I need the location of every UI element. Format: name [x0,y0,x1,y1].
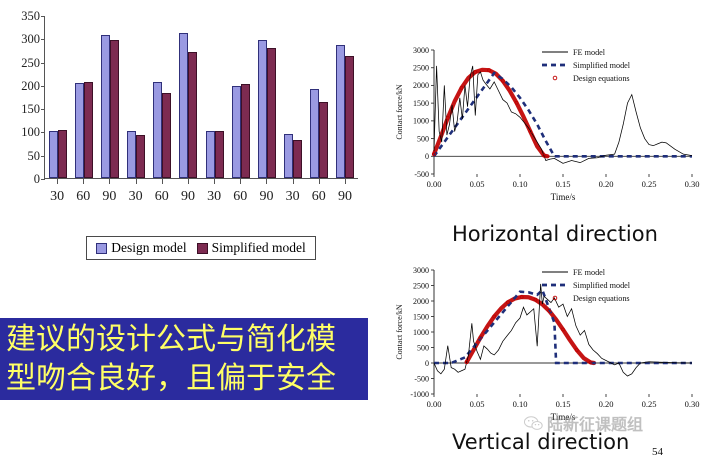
bar-chart-x-tickmark [96,179,122,187]
bar-chart-x-tick-label: 60 [306,189,332,205]
bar-simplified-model [241,84,250,178]
caption-horizontal-direction: Horizontal direction [452,222,658,246]
bar-pair [206,16,224,178]
bar-cluster [280,16,306,178]
y-axis-label: Contact force/kN [395,304,404,360]
bar-chart-y-tick-label: 150 [21,103,40,116]
x-axis-label: Time/s [551,192,576,202]
x-tick-label: 0.15 [556,399,571,409]
bar-simplified-model [188,52,197,178]
legend-item-design-model: Design model [96,240,186,256]
bar-chart-x-tickmark [149,179,175,187]
x-tick-label: 0.30 [685,399,700,409]
bar-pair [310,16,328,178]
bar-chart-x-tickmark [306,179,332,187]
bar-chart-panel: 050100150200250300350 306090306090306090… [0,0,372,222]
legend-swatch-design-model [96,243,107,254]
y-tick-label: 1000 [413,328,429,337]
bar-chart-y-tick-label: 50 [28,149,41,162]
x-tick-label: 0.00 [427,399,442,409]
x-tick-label: 0.00 [427,179,442,189]
x-tick-label: 0.30 [685,179,700,189]
simplified-model-curve [434,73,692,156]
bar-cluster [254,16,280,178]
x-tick-label: 0.10 [513,179,528,189]
bar-chart-x-axis-labels: 306090306090306090306090 [44,189,358,205]
y-tick-label: 500 [417,343,429,352]
y-tick-label: -500 [414,374,429,383]
watermark-text: 陆新征课题组 [547,411,643,435]
wechat-icon [524,416,543,431]
x-tick-label: 0.25 [642,179,657,189]
y-tick-label: 3000 [413,46,429,55]
x-tick-label: 0.05 [470,179,485,189]
bar-cluster [306,16,332,178]
bar-pair [127,16,145,178]
bar-pair [336,16,354,178]
bar-cluster [228,16,254,178]
vertical-chart-svg: -1000-5000500100015002000250030000.000.0… [392,258,702,430]
y-tick-label: 500 [417,134,429,143]
y-tick-label: -1000 [410,390,429,399]
callout-line-1: 建议的设计公式与简化模 [6,320,368,359]
horizontal-contact-force-chart: -5000500100015002000250030000.000.050.10… [392,34,702,212]
fe-model-curve [434,66,692,163]
legend-label-design-equations: Design equations [573,74,630,83]
bar-chart-x-tick-label: 30 [201,189,227,205]
bar-chart-y-tick-label: 100 [21,126,40,139]
callout-line-2: 型吻合良好，且偏于安全 [6,359,368,398]
bar-design-model [49,131,58,178]
bar-cluster [175,16,201,178]
bar-pair [179,16,197,178]
bar-chart-x-tick-label: 60 [227,189,253,205]
bar-chart-x-tick-label: 90 [332,189,358,205]
bar-chart-x-tick-label: 30 [123,189,149,205]
bar-pair [153,16,171,178]
bar-pair [75,16,93,178]
bar-chart-x-tickmark [70,179,96,187]
legend-label-simplified-model: Simplified model [573,61,631,70]
bar-simplified-model [58,130,67,178]
y-tick-label: 2500 [413,64,429,73]
bar-chart-x-tickmark [332,179,358,187]
bar-design-model [232,86,241,178]
bar-simplified-model [84,82,93,178]
x-tick-label: 0.15 [556,179,571,189]
bar-cluster [71,16,97,178]
legend-label-fe-model: FE model [573,48,606,57]
bar-simplified-model [293,140,302,178]
bar-chart-legend: Design model Simplified model [86,236,316,260]
bar-simplified-model [215,131,224,178]
bar-pair [258,16,276,178]
bar-chart-x-tickmark [227,179,253,187]
bar-chart-x-tickmark [123,179,149,187]
legend-label-simplified-model: Simplified model [212,240,306,256]
bar-simplified-model [136,135,145,178]
bar-chart-y-tick-label: 300 [21,33,40,46]
legend-label-design-equations: Design equations [573,294,630,303]
bar-design-model [310,89,319,178]
bar-chart-x-tickmarks [44,179,358,187]
bar-chart-x-tick-label: 30 [44,189,70,205]
watermark: 陆新征课题组 [524,410,704,436]
bar-chart-bars [45,16,358,178]
y-tick-label: 2000 [413,297,429,306]
y-tick-label: 2000 [413,81,429,90]
y-axis-label: Contact force/kN [395,84,404,140]
bar-chart-x-tickmark [253,179,279,187]
y-tick-label: 0 [425,359,429,368]
bar-design-model [206,131,215,178]
vertical-contact-force-chart: -1000-5000500100015002000250030000.000.0… [392,258,702,430]
bar-simplified-model [162,93,171,178]
bar-design-model [179,33,188,178]
y-tick-label: 0 [425,152,429,161]
bar-cluster [45,16,71,178]
bar-chart-x-tick-label: 30 [280,189,306,205]
bar-chart-y-tick-label: 0 [34,173,40,186]
bar-pair [49,16,67,178]
bar-simplified-model [110,40,119,178]
legend-label-simplified-model: Simplified model [573,281,631,290]
y-tick-label: 3000 [413,266,429,275]
bar-design-model [153,82,162,178]
x-tick-label: 0.05 [470,399,485,409]
legend-label-design-model: Design model [111,240,186,256]
x-tick-label: 0.25 [642,399,657,409]
bar-pair [101,16,119,178]
legend-label-fe-model: FE model [573,268,606,277]
y-tick-label: 1500 [413,99,429,108]
bar-design-model [258,40,267,178]
bar-chart-x-tickmark [175,179,201,187]
y-tick-label: 2500 [413,281,429,290]
bar-simplified-model [267,48,276,178]
y-tick-label: 1000 [413,117,429,126]
conclusion-callout-box: 建议的设计公式与简化模 型吻合良好，且偏于安全 [0,318,368,400]
bar-chart-x-tick-label: 90 [253,189,279,205]
bar-chart-y-tick-label: 200 [21,80,40,93]
legend-marker-design-equations [553,76,557,80]
bar-cluster [332,16,358,178]
x-tick-label: 0.10 [513,399,528,409]
page-number: 54 [652,446,663,458]
bar-simplified-model [319,102,328,178]
legend-item-simplified-model: Simplified model [197,240,306,256]
design-equations-curve [467,297,594,363]
bar-chart-x-tickmark [201,179,227,187]
bar-cluster [149,16,175,178]
legend-swatch-simplified-model [197,243,208,254]
bar-design-model [284,134,293,178]
x-tick-label: 0.20 [599,399,614,409]
bar-chart-x-tickmark [44,179,70,187]
x-tick-label: 0.20 [599,179,614,189]
horizontal-chart-svg: -5000500100015002000250030000.000.050.10… [392,34,702,212]
bar-design-model [336,45,345,178]
y-tick-label: -500 [414,170,429,179]
bar-cluster [97,16,123,178]
bar-chart-x-tick-label: 90 [175,189,201,205]
bar-simplified-model [345,56,354,178]
bar-design-model [101,35,110,178]
bar-design-model [127,131,136,179]
bar-chart-x-tick-label: 60 [149,189,175,205]
bar-chart-x-tick-label: 90 [96,189,122,205]
bar-cluster [201,16,227,178]
bar-chart-x-tickmark [280,179,306,187]
bar-pair [232,16,250,178]
bar-cluster [123,16,149,178]
bar-chart-x-tick-label: 60 [70,189,96,205]
bar-chart-y-tick-label: 350 [21,10,40,23]
y-tick-label: 1500 [413,312,429,321]
bar-chart-y-tick-label: 250 [21,56,40,69]
bar-chart-plot-area: 050100150200250300350 [44,16,358,179]
bar-pair [284,16,302,178]
bar-design-model [75,83,84,178]
